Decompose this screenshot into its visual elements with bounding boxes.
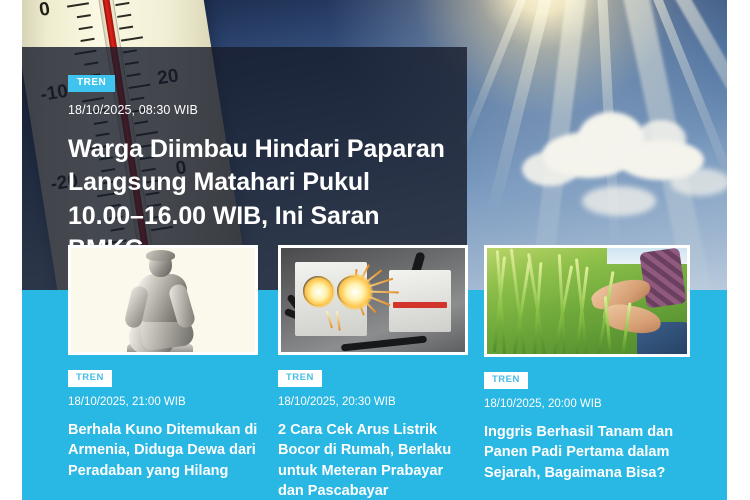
- article-card[interactable]: TREN 18/10/2025, 21:00 WIB Berhala Kuno …: [68, 245, 258, 481]
- article-card[interactable]: TREN 18/10/2025, 20:30 WIB 2 Cara Cek Ar…: [278, 245, 468, 500]
- card-category-badge[interactable]: TREN: [278, 370, 322, 387]
- card-headline[interactable]: Berhala Kuno Ditemukan di Armenia, Didug…: [68, 420, 258, 482]
- card-timestamp: 18/10/2025, 21:00 WIB: [68, 396, 258, 408]
- rice-field-image: [487, 248, 687, 354]
- card-category-badge[interactable]: TREN: [68, 370, 112, 387]
- electrical-sparks-image: [281, 248, 465, 352]
- card-thumbnail[interactable]: [278, 245, 468, 355]
- card-thumbnail[interactable]: [68, 245, 258, 355]
- card-headline[interactable]: 2 Cara Cek Arus Listrik Bocor di Rumah, …: [278, 420, 468, 500]
- news-widget-page: 0 -10 -20 40 20 0 TREN 18/10/2025, 08:30…: [0, 0, 750, 500]
- card-timestamp: 18/10/2025, 20:30 WIB: [278, 396, 468, 408]
- content-column: 0 -10 -20 40 20 0 TREN 18/10/2025, 08:30…: [22, 0, 727, 500]
- card-timestamp: 18/10/2025, 20:00 WIB: [484, 398, 690, 410]
- statue-image: [71, 248, 255, 352]
- card-headline[interactable]: Inggris Berhasil Tanam dan Panen Padi Pe…: [484, 422, 690, 484]
- article-card[interactable]: TREN 18/10/2025, 20:00 WIB Inggris Berha…: [484, 245, 690, 483]
- card-thumbnail[interactable]: [484, 245, 690, 357]
- article-card-list: TREN 18/10/2025, 21:00 WIB Berhala Kuno …: [22, 0, 727, 500]
- card-category-badge[interactable]: TREN: [484, 372, 528, 389]
